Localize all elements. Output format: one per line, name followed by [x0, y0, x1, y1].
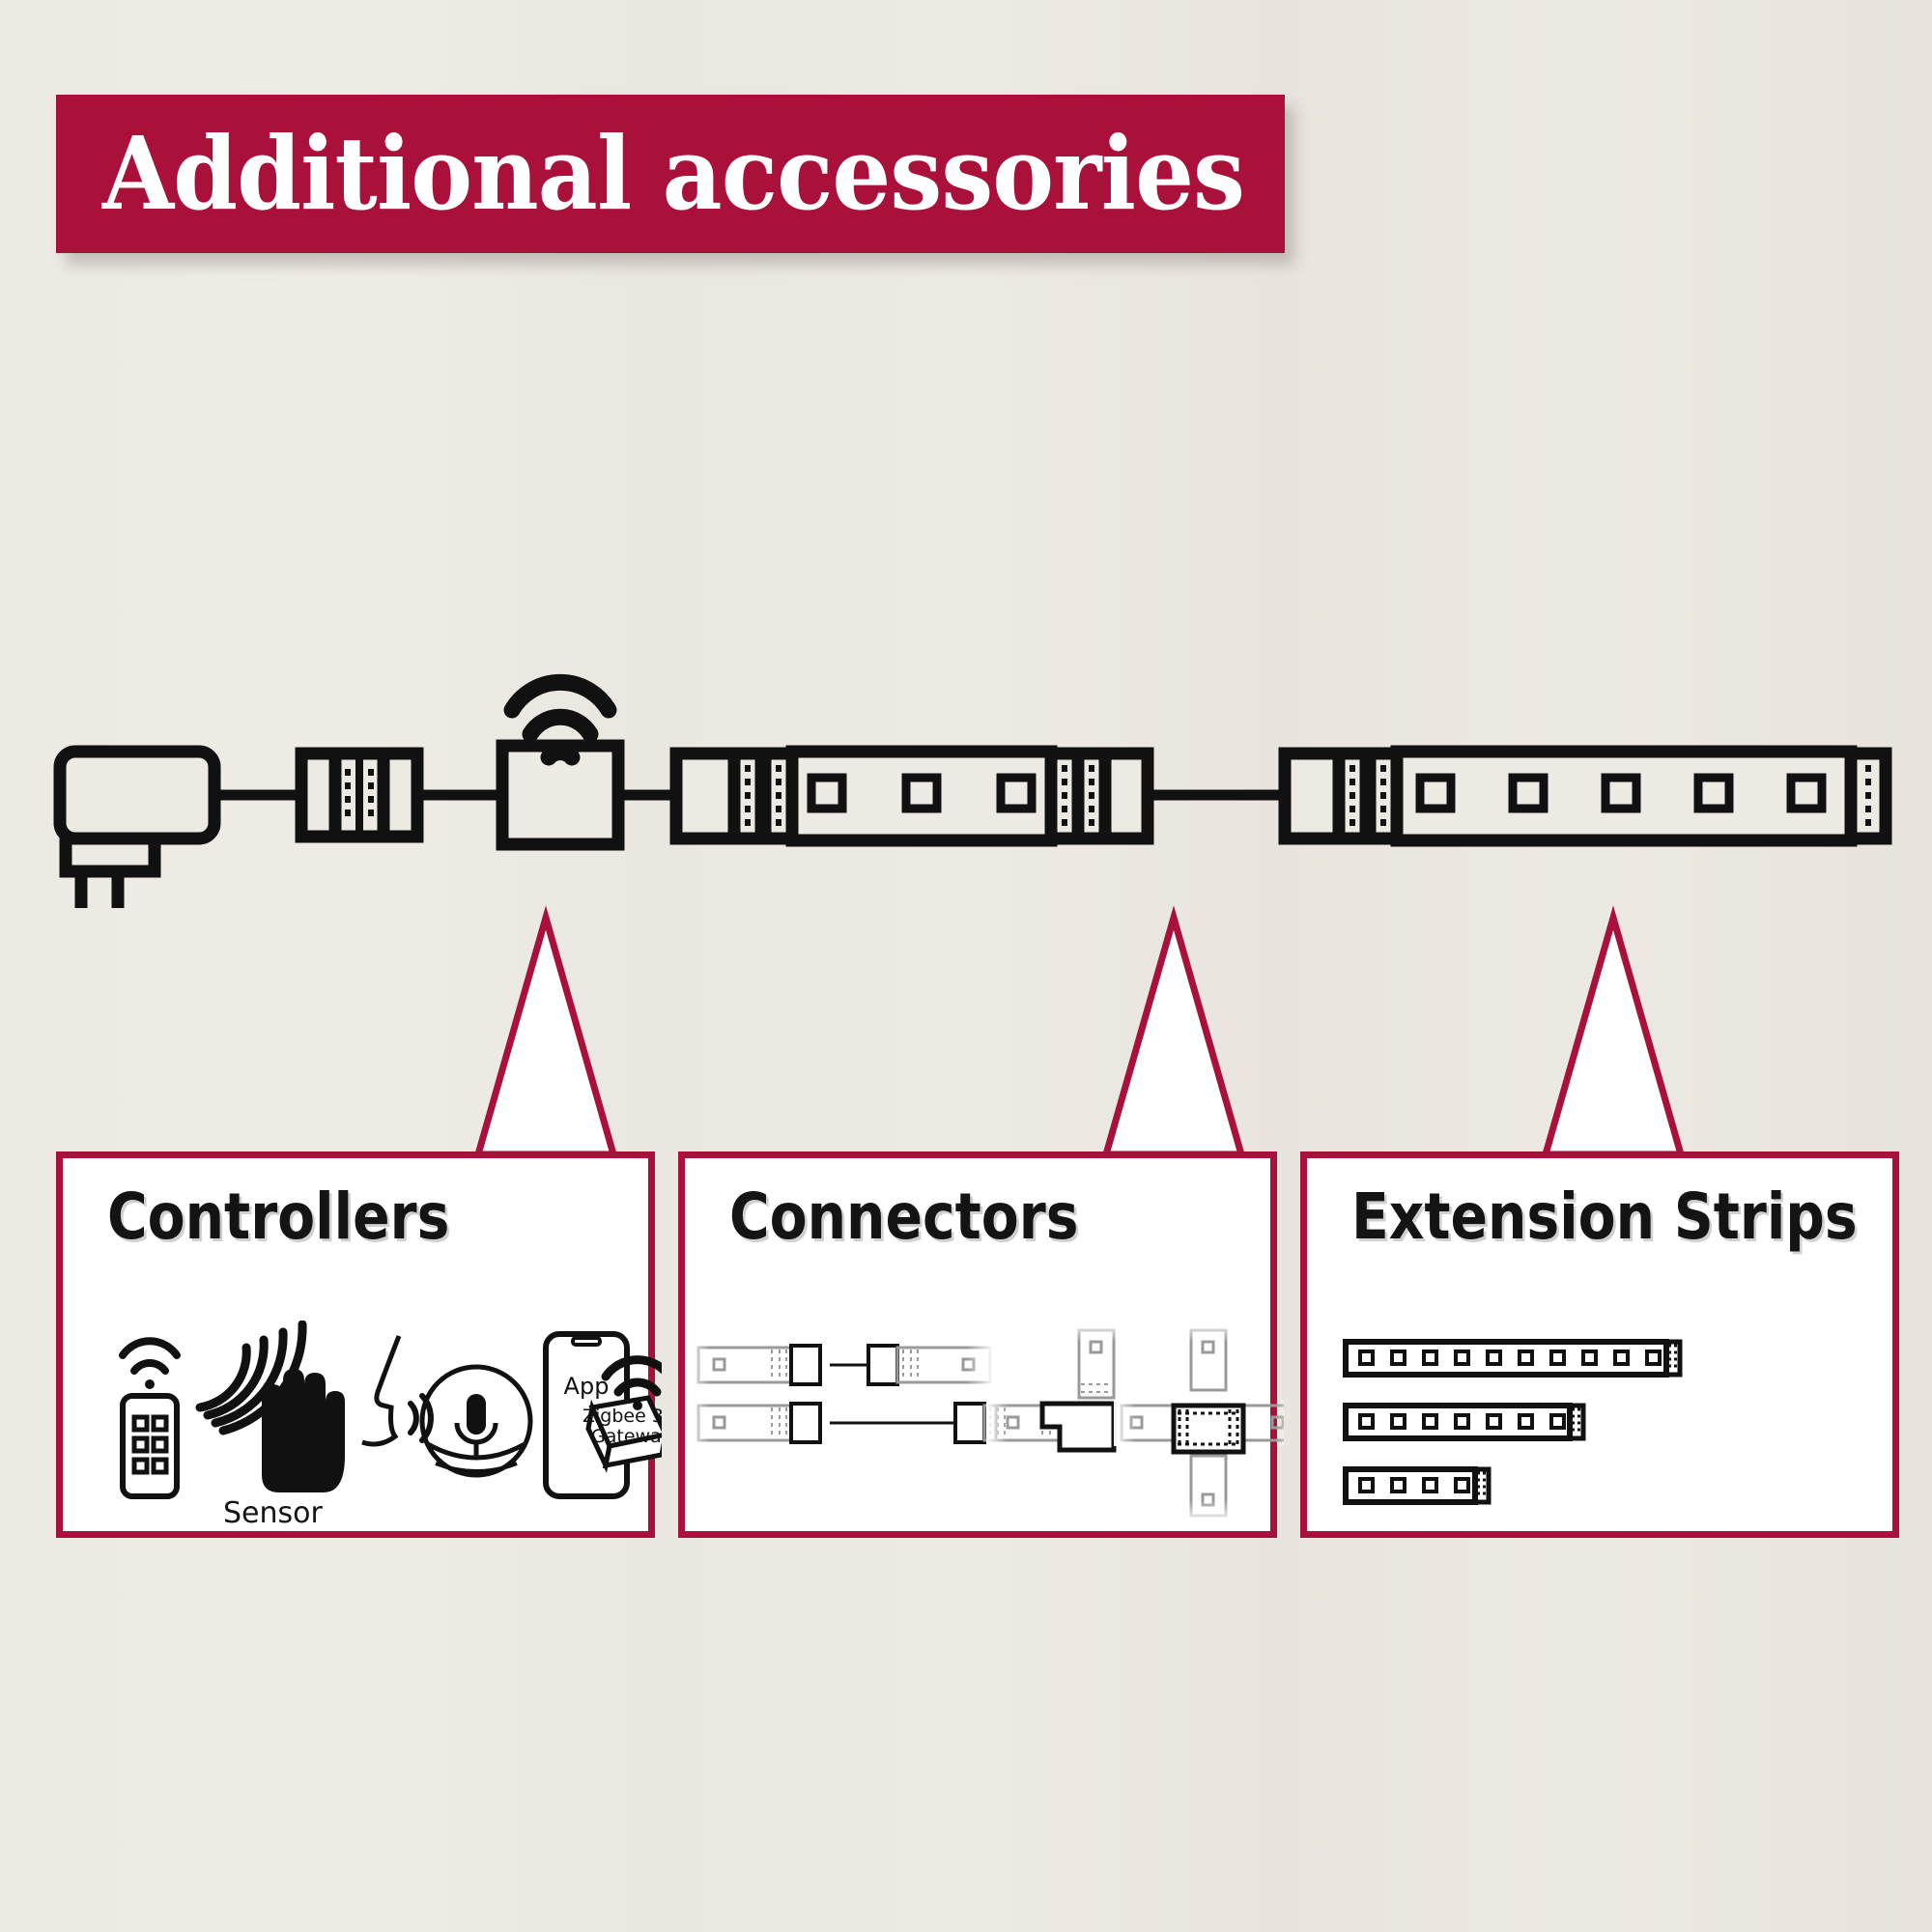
remote-control-icon	[123, 1341, 177, 1496]
controllers-icon-row: App Zigbee 3.0 Gateway	[63, 1321, 662, 1543]
extension-strip-medium	[1346, 1406, 1583, 1438]
cross-connector-icon	[1114, 1321, 1284, 1523]
card-title-connectors: Connectors	[729, 1185, 1079, 1249]
card-body-connectors	[685, 1321, 1270, 1531]
card-title-controllers: Controllers	[107, 1185, 449, 1249]
sensor-label: Sensor	[223, 1496, 323, 1530]
extension-strip-long	[1346, 1342, 1680, 1375]
card-body-extension-strips	[1307, 1321, 1892, 1531]
short-jumper-connector-icon	[685, 1342, 994, 1388]
pointer-connectors	[1106, 918, 1241, 1154]
card-title-extension-strips: Extension Strips	[1351, 1185, 1858, 1249]
card-body-controllers: App Zigbee 3.0 Gateway Sensor	[63, 1321, 648, 1531]
pointer-extension-strips	[1546, 918, 1681, 1154]
poster-canvas: Additional accessories	[0, 0, 1932, 1932]
extension-strip-short	[1346, 1469, 1489, 1502]
card-connectors[interactable]: Connectors	[678, 1151, 1277, 1538]
voice-assistant-icon	[362, 1336, 530, 1475]
card-controllers[interactable]: Controllers	[56, 1151, 655, 1538]
connectors-icon-row	[685, 1321, 1284, 1543]
zigbee-gateway-label-1: Zigbee 3.0	[582, 1406, 662, 1427]
extension-strips-icon-row	[1307, 1321, 1906, 1543]
motion-sensor-icon	[200, 1324, 345, 1492]
zigbee-gateway-label-2: Gateway	[591, 1426, 662, 1447]
callout-pointers	[0, 0, 1932, 1932]
card-extension-strips[interactable]: Extension Strips	[1300, 1151, 1899, 1538]
pointer-controllers	[478, 918, 613, 1154]
